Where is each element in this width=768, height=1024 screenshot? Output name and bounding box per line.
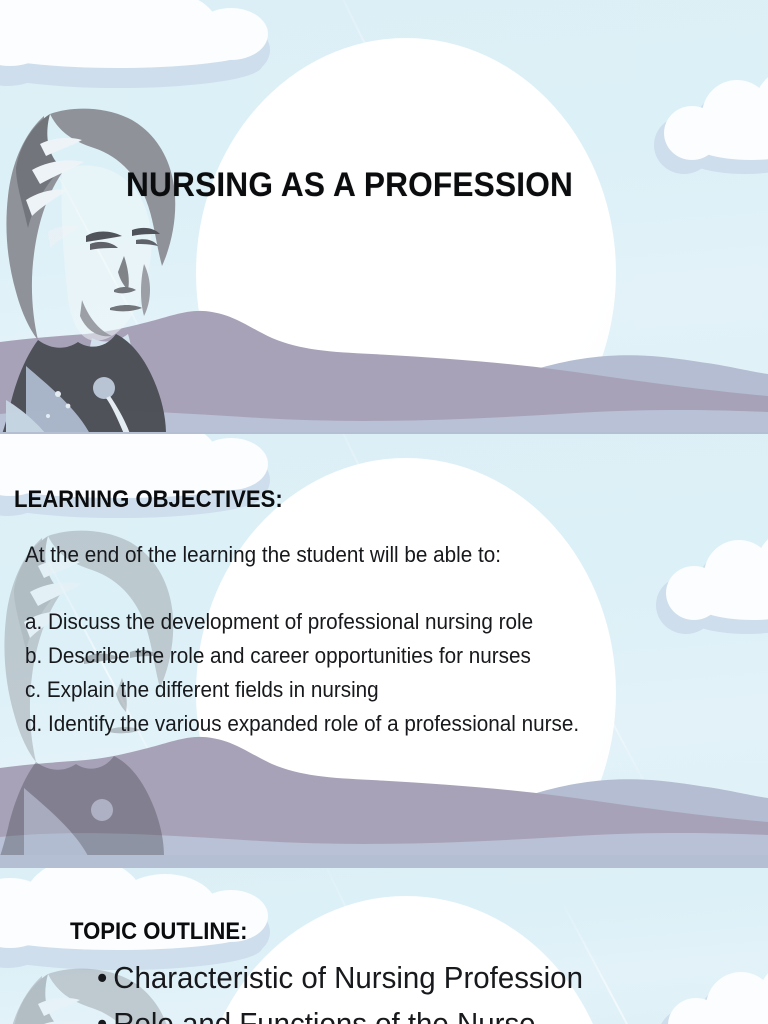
objective-item-a: a. Discuss the development of profession… <box>25 609 533 635</box>
page-title: NURSING AS A PROFESSION <box>126 166 573 205</box>
topic-bullet-1: Characteristic of Nursing Profession <box>97 960 583 996</box>
slide-separator <box>0 855 768 868</box>
bullet-dot-icon <box>97 1006 113 1024</box>
slide-learning-objectives[interactable]: LEARNING OBJECTIVES: At the end of the l… <box>0 434 768 855</box>
objective-item-c: c. Explain the different fields in nursi… <box>25 677 379 703</box>
bullet-dot-icon <box>97 960 113 996</box>
objectives-intro: At the end of the learning the student w… <box>25 542 501 568</box>
objective-item-d: d. Identify the various expanded role of… <box>25 711 579 737</box>
slide-scroll-container[interactable]: NURSING AS A PROFESSION <box>0 0 768 1024</box>
topic-bullet-2: Role and Functions of the Nurse <box>97 1006 536 1024</box>
topic-outline-heading: TOPIC OUTLINE: <box>70 918 247 946</box>
objective-item-b: b. Describe the role and career opportun… <box>25 643 531 669</box>
learning-objectives-heading: LEARNING OBJECTIVES: <box>14 486 283 514</box>
slide-topic-outline[interactable]: TOPIC OUTLINE: Characteristic of Nursing… <box>0 868 768 1024</box>
slide2-text-layer: LEARNING OBJECTIVES: At the end of the l… <box>0 434 768 855</box>
slide1-text-layer: NURSING AS A PROFESSION <box>0 0 768 432</box>
slide3-text-layer: TOPIC OUTLINE: Characteristic of Nursing… <box>0 868 768 1024</box>
topic-bullet-1-label: Characteristic of Nursing Profession <box>113 960 583 995</box>
topic-bullet-2-label: Role and Functions of the Nurse <box>113 1006 535 1024</box>
slide-title[interactable]: NURSING AS A PROFESSION <box>0 0 768 432</box>
